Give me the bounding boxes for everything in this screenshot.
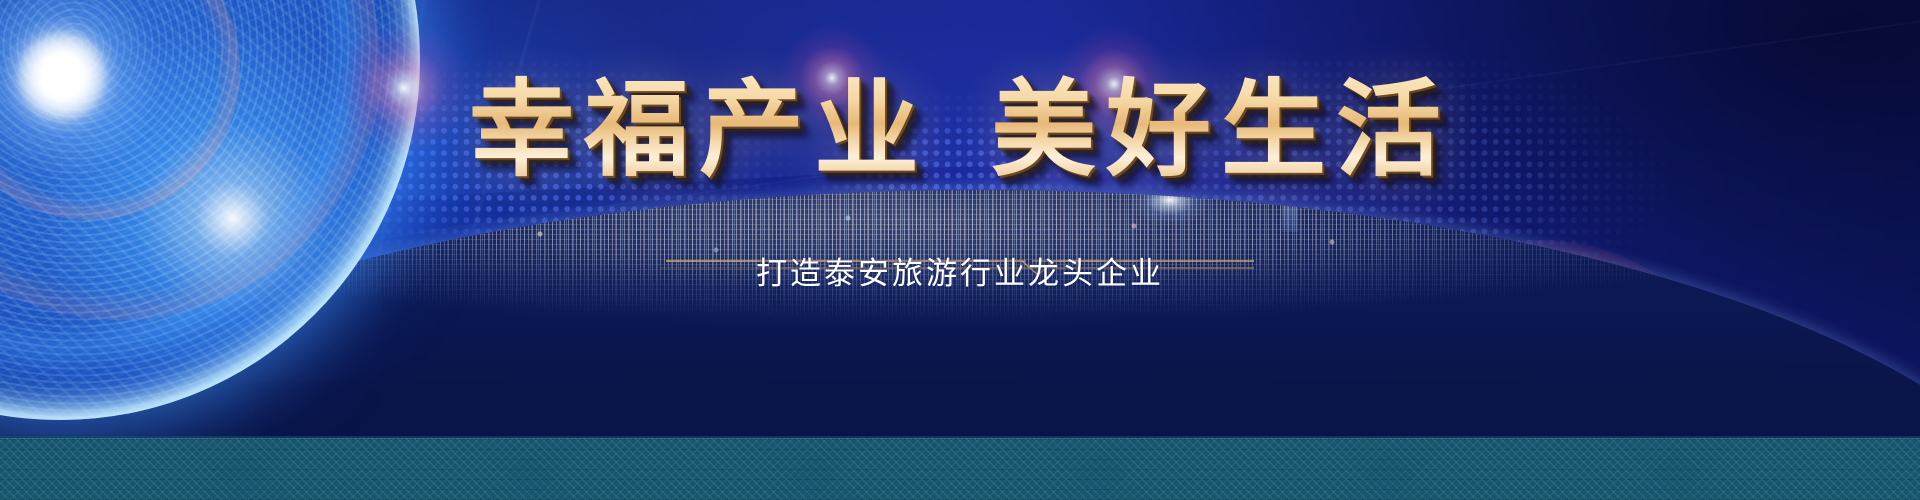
bottom-teal-bar (0, 438, 1920, 500)
banner-subtitle: 打造泰安旅游行业龙头企业 (0, 248, 1920, 293)
hero-banner: 幸福产业 美好生活 打造泰安旅游行业龙头企业 (0, 0, 1920, 500)
city-starburst-light-2 (1125, 190, 1215, 228)
sun-flare-core (17, 31, 107, 121)
city-tower (1282, 190, 1298, 232)
